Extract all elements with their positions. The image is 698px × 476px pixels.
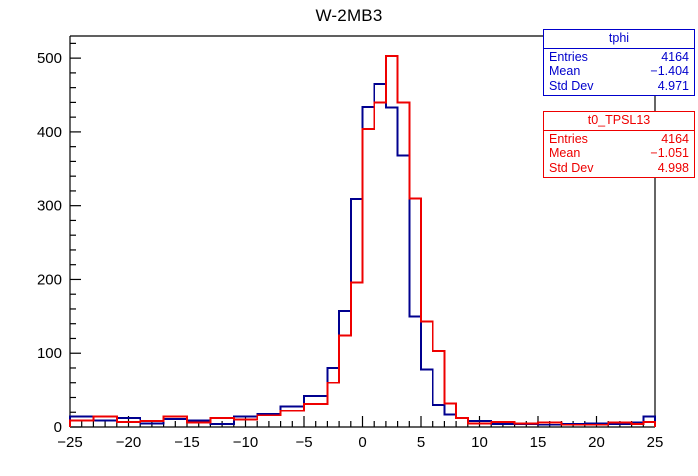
y-axis-tick-label: 100 — [37, 345, 62, 362]
x-axis-tick-label: 5 — [417, 434, 425, 451]
x-axis-tick-label: 10 — [471, 434, 488, 451]
root-canvas: W-2MB3 0100200300400500−25−20−15−10−5051… — [0, 0, 698, 476]
stats-label-entries: Entries — [549, 133, 588, 146]
stats-label-mean: Mean — [549, 65, 580, 78]
stats-box-t0-tpsl13-title: t0_TPSL13 — [544, 112, 694, 131]
x-axis-tick-label: −5 — [295, 434, 312, 451]
y-axis-tick-label: 200 — [37, 271, 62, 288]
stats-value-mean: −1.404 — [650, 65, 689, 78]
y-axis-tick-label: 400 — [37, 124, 62, 141]
y-axis-tick-label: 300 — [37, 198, 62, 215]
y-axis-tick-label: 500 — [37, 50, 62, 67]
stats-label-mean: Mean — [549, 147, 580, 160]
stats-row-std-dev: Std Dev 4.998 — [544, 161, 694, 176]
x-axis-tick-label: −15 — [174, 434, 199, 451]
stats-row-entries: Entries 4164 — [544, 132, 694, 147]
stats-label-entries: Entries — [549, 51, 588, 64]
x-axis-tick-label: 0 — [358, 434, 366, 451]
stats-row-mean: Mean −1.051 — [544, 146, 694, 161]
x-axis-tick-label: 25 — [647, 434, 664, 451]
stats-row-std-dev: Std Dev 4.971 — [544, 79, 694, 94]
x-axis-tick-label: −25 — [57, 434, 82, 451]
stats-box-t0-tpsl13[interactable]: t0_TPSL13 Entries 4164 Mean −1.051 Std D… — [543, 111, 695, 178]
stats-box-t0-tpsl13-rows: Entries 4164 Mean −1.051 Std Dev 4.998 — [544, 131, 694, 178]
stats-box-tphi-rows: Entries 4164 Mean −1.404 Std Dev 4.971 — [544, 49, 694, 96]
stats-value-mean: −1.051 — [650, 147, 689, 160]
stats-value-std-dev: 4.971 — [658, 80, 689, 93]
x-axis-tick-label: 15 — [530, 434, 547, 451]
chart-group: 0100200300400500−25−20−15−10−50510152025 — [37, 36, 663, 451]
stats-row-mean: Mean −1.404 — [544, 64, 694, 79]
stats-value-entries: 4164 — [661, 51, 689, 64]
x-axis-tick-label: 20 — [588, 434, 605, 451]
stats-label-std-dev: Std Dev — [549, 162, 593, 175]
stats-value-std-dev: 4.998 — [658, 162, 689, 175]
x-axis-tick-label: −20 — [116, 434, 141, 451]
stats-label-std-dev: Std Dev — [549, 80, 593, 93]
x-axis-tick-label: −10 — [233, 434, 258, 451]
stats-box-tphi-title: tphi — [544, 30, 694, 49]
stats-box-tphi[interactable]: tphi Entries 4164 Mean −1.404 Std Dev 4.… — [543, 29, 695, 96]
stats-row-entries: Entries 4164 — [544, 50, 694, 65]
stats-value-entries: 4164 — [661, 133, 689, 146]
